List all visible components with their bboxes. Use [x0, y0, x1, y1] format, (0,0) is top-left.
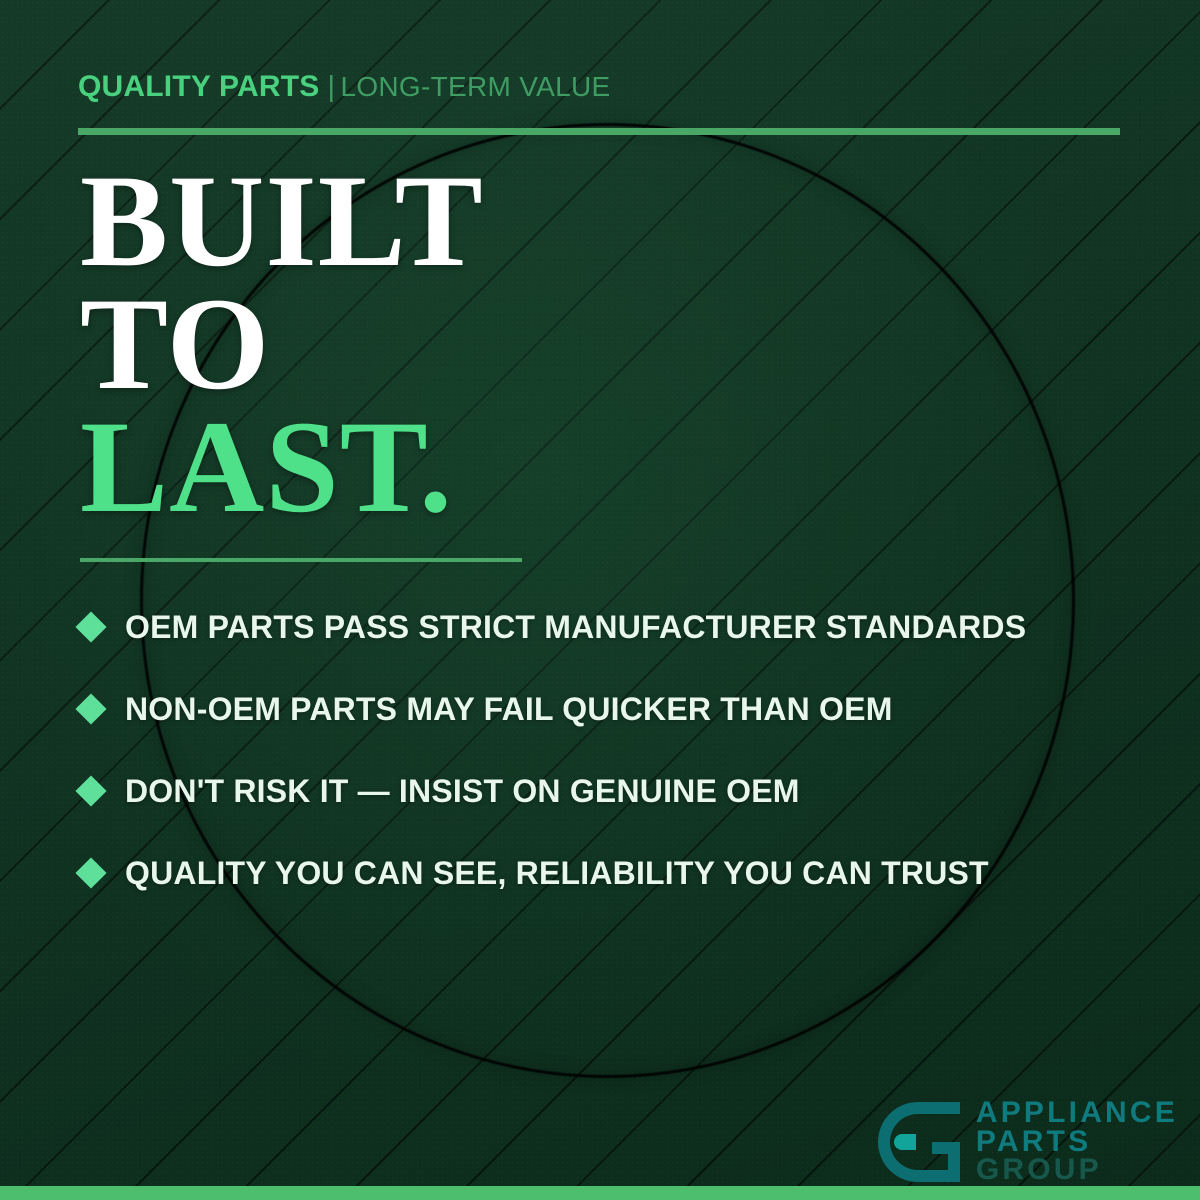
diamond-bullet-icon — [75, 611, 106, 642]
list-item: DON'T RISK IT — INSIST ON GENUINE OEM — [80, 750, 1140, 832]
kicker-strong-text: QUALITY PARTS — [78, 70, 320, 103]
kicker-separator: | — [328, 71, 336, 103]
brand-word-appliance: APPLIANCE — [976, 1099, 1178, 1128]
benefits-list: OEM PARTS PASS STRICT MANUFACTURER STAND… — [80, 586, 1140, 914]
headline-line-1: BUILT — [80, 160, 484, 283]
list-item-label: QUALITY YOU CAN SEE, RELIABILITY YOU CAN… — [125, 855, 989, 892]
headline-divider-rule — [80, 558, 522, 562]
headline-line-2: TO — [80, 283, 484, 406]
list-item-label: DON'T RISK IT — INSIST ON GENUINE OEM — [125, 773, 800, 810]
appliance-parts-group-g-mark-icon — [872, 1098, 964, 1186]
brand-word-group: GROUP — [976, 1156, 1178, 1185]
bottom-accent-bar — [0, 1186, 1200, 1200]
page-title: BUILT TO LAST. — [80, 160, 484, 528]
list-item-label: OEM PARTS PASS STRICT MANUFACTURER STAND… — [125, 609, 1026, 646]
headline-line-3: LAST. — [80, 406, 484, 529]
diamond-bullet-icon — [75, 857, 106, 888]
brand-logo: APPLIANCE PARTS GROUP — [872, 1098, 1178, 1186]
brand-word-parts: PARTS — [976, 1128, 1178, 1157]
list-item-label: NON-OEM PARTS MAY FAIL QUICKER THAN OEM — [125, 691, 893, 728]
diamond-bullet-icon — [75, 693, 106, 724]
list-item: NON-OEM PARTS MAY FAIL QUICKER THAN OEM — [80, 668, 1140, 750]
brand-logo-wordmark: APPLIANCE PARTS GROUP — [976, 1099, 1178, 1185]
kicker-line: QUALITY PARTS|LONG-TERM VALUE — [78, 72, 610, 102]
list-item: QUALITY YOU CAN SEE, RELIABILITY YOU CAN… — [80, 832, 1140, 914]
list-item: OEM PARTS PASS STRICT MANUFACTURER STAND… — [80, 586, 1140, 668]
diamond-bullet-icon — [75, 775, 106, 806]
kicker-light-text: LONG-TERM VALUE — [340, 71, 610, 102]
poster-canvas: QUALITY PARTS|LONG-TERM VALUE BUILT TO L… — [0, 0, 1200, 1200]
header-divider-rule — [78, 128, 1120, 135]
